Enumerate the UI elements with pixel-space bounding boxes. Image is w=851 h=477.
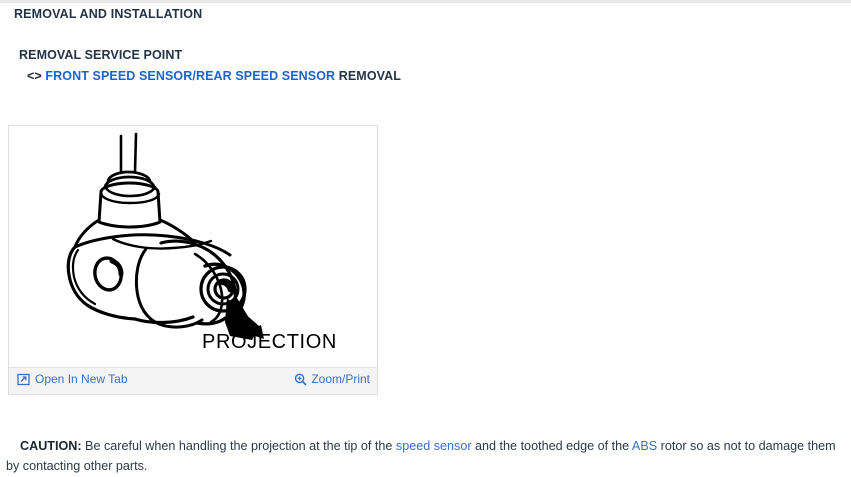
- angle-marker-icon: <>: [27, 69, 42, 83]
- page-title: REMOVAL AND INSTALLATION: [14, 7, 202, 21]
- zoom-print-label: Zoom/Print: [311, 372, 370, 386]
- figure-illustration[interactable]: PROJECTION: [9, 126, 377, 367]
- procedure-link-suffix: REMOVAL: [335, 69, 401, 83]
- caution-paragraph: CAUTION: Be careful when handling the pr…: [6, 436, 838, 476]
- open-in-new-tab-icon: [17, 373, 30, 386]
- link-speed-sensor[interactable]: speed sensor: [396, 439, 472, 453]
- caution-text-2: and the toothed edge of the: [472, 439, 632, 453]
- open-in-new-tab-label: Open In New Tab: [35, 372, 128, 386]
- caution-label: CAUTION:: [20, 439, 82, 453]
- caution-text-1: Be careful when handling the projection …: [82, 439, 396, 453]
- document-page: REMOVAL AND INSTALLATION REMOVAL SERVICE…: [0, 0, 851, 477]
- link-abs[interactable]: ABS: [632, 439, 657, 453]
- magnifier-plus-icon: [294, 373, 307, 386]
- link-rear-speed-sensor[interactable]: REAR SPEED SENSOR: [196, 69, 335, 83]
- figure-container: PROJECTION Open In New Tab: [8, 125, 378, 395]
- figure-toolbar: Open In New Tab Zoom/Print: [9, 367, 377, 394]
- open-in-new-tab-button[interactable]: Open In New Tab: [17, 372, 128, 386]
- link-front-speed-sensor[interactable]: FRONT SPEED SENSOR: [45, 69, 192, 83]
- procedure-link-row: <> FRONT SPEED SENSOR/REAR SPEED SENSOR …: [27, 69, 401, 83]
- section-heading: REMOVAL SERVICE POINT: [19, 48, 182, 62]
- figure-callout-label: PROJECTION: [202, 331, 337, 353]
- zoom-print-button[interactable]: Zoom/Print: [294, 372, 370, 386]
